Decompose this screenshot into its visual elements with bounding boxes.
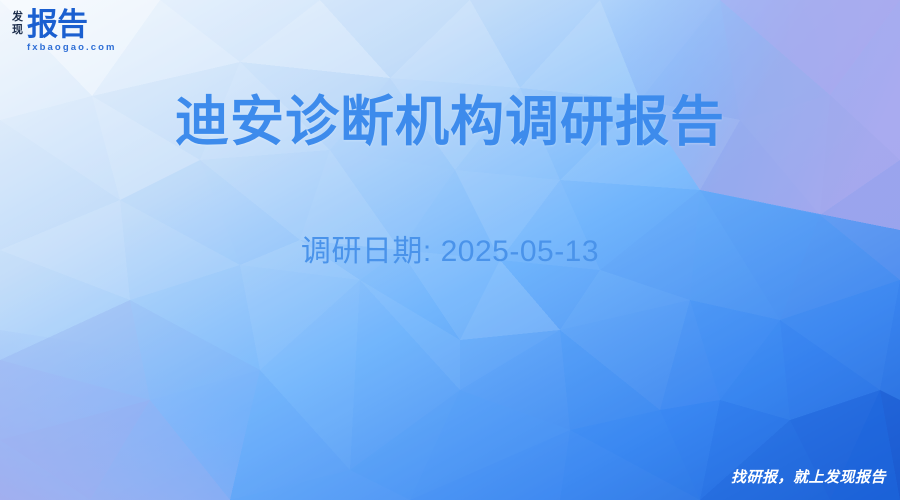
logo-domain: fxbaogao.com bbox=[27, 42, 117, 53]
report-cover: 发 现 报告 fxbaogao.com 迪安诊断机构调研报告 调研日期: 202… bbox=[0, 0, 900, 500]
logo-char-fa: 发 bbox=[12, 11, 23, 24]
logo-stacked-chars: 发 现 bbox=[12, 9, 23, 37]
logo-text-block: 报告 fxbaogao.com bbox=[27, 9, 117, 53]
site-logo[interactable]: 发 现 报告 fxbaogao.com bbox=[12, 9, 117, 53]
logo-wordmark: 报告 bbox=[27, 9, 117, 40]
page-title: 迪安诊断机构调研报告 bbox=[0, 88, 900, 156]
logo-char-xian: 现 bbox=[12, 24, 23, 37]
brand-tagline: 找研报，就上发现报告 bbox=[731, 468, 886, 488]
survey-date-subtitle: 调研日期: 2025-05-13 bbox=[0, 232, 900, 272]
